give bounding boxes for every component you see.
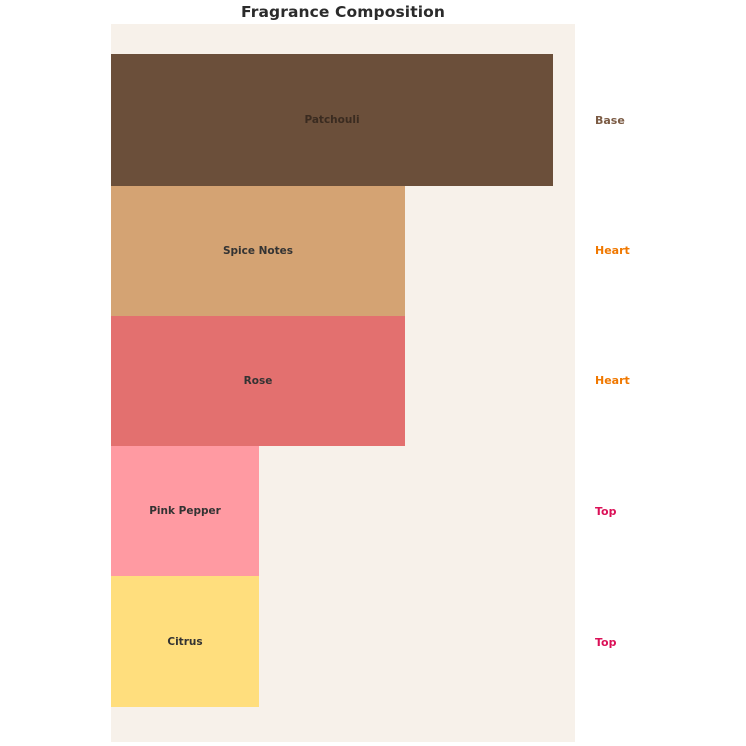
bar-label: Patchouli xyxy=(304,114,359,126)
stage-label-heart-1: Heart xyxy=(595,244,630,257)
chart-title: Fragrance Composition xyxy=(0,3,686,21)
bar-pink-pepper[interactable]: Pink Pepper xyxy=(111,446,259,576)
bar-citrus[interactable]: Citrus xyxy=(111,576,259,707)
stage-label-base-0: Base xyxy=(595,114,625,127)
bar-label: Pink Pepper xyxy=(149,505,221,517)
bar-spice-notes[interactable]: Spice Notes xyxy=(111,186,405,316)
bar-label: Spice Notes xyxy=(223,245,293,257)
figure-canvas: Fragrance Composition PatchouliSpice Not… xyxy=(0,0,746,746)
bar-patchouli[interactable]: Patchouli xyxy=(111,54,553,186)
plot-area: PatchouliSpice NotesRosePink PepperCitru… xyxy=(111,24,575,742)
bar-rose[interactable]: Rose xyxy=(111,316,405,446)
bar-label: Rose xyxy=(244,375,273,387)
stage-label-heart-2: Heart xyxy=(595,374,630,387)
stage-label-top-3: Top xyxy=(595,505,616,518)
stage-label-top-4: Top xyxy=(595,636,616,649)
bar-label: Citrus xyxy=(167,636,202,648)
